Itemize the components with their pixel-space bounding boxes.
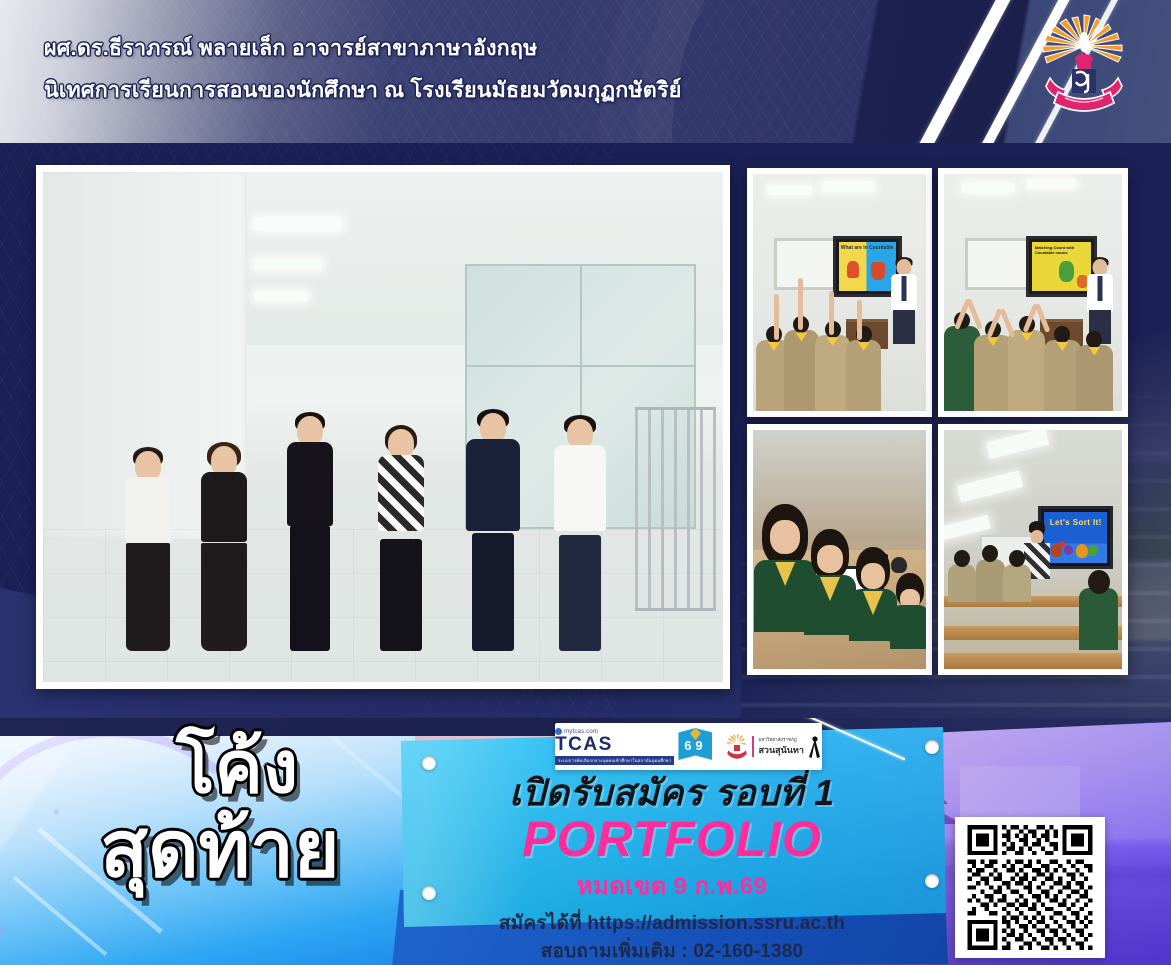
classroom-raising-hands: What are in Countable bbox=[753, 174, 926, 411]
ssru-name-line-2: สวนสุนันทา bbox=[758, 743, 803, 757]
qr-code-image bbox=[963, 825, 1097, 950]
banner-headline: โค้ง สุดท้าย bbox=[20, 732, 420, 888]
ssru-logo: มหาวิทยาลัยราชภัฏ สวนสุนันทา bbox=[726, 734, 821, 760]
poster-root: ผศ.ดร.ธีราภรณ์ พลายเล็ก อาจารย์สาขาภาษาอ… bbox=[0, 0, 1171, 965]
tcas-year: 69 bbox=[684, 738, 706, 753]
ssru-name-line-1: มหาวิทยาลัยราชภัฏ bbox=[758, 736, 803, 743]
ssru-crest-small-icon bbox=[726, 734, 748, 760]
thumb-photo-frame-2: Matching Count with Countable nouns bbox=[938, 168, 1128, 417]
headline-line-2: สุดท้าย bbox=[20, 810, 420, 888]
header-title-line-2: นิเทศการเรียนการสอนของนักศึกษา ณ โรงเรีย… bbox=[44, 70, 682, 112]
headline-line-1: โค้ง bbox=[54, 732, 420, 804]
poster-body: What are in Countable bbox=[0, 143, 1171, 718]
thumb-photo-frame-3 bbox=[747, 424, 932, 675]
header-title-line-1: ผศ.ดร.ธีราภรณ์ พลายเล็ก อาจารย์สาขาภาษาอ… bbox=[44, 28, 682, 70]
flag-grommet-top-right bbox=[925, 740, 939, 754]
poster-header: ผศ.ดร.ธีราภรณ์ พลายเล็ก อาจารย์สาขาภาษาอ… bbox=[0, 0, 1171, 143]
mourning-ribbon-icon bbox=[808, 735, 822, 759]
tcas-wordmark: TCAS bbox=[555, 735, 613, 754]
thumb-photo-frame-4: Let's Sort It! bbox=[938, 424, 1128, 675]
tcas-logo: mytcas.com TCAS ระบบการคัดเลือกกลางบุคคล… bbox=[555, 728, 712, 765]
tcas-ssru-logo-card: mytcas.com TCAS ระบบการคัดเลือกกลางบุคคล… bbox=[555, 723, 822, 770]
classroom-heart-hands: Matching Count with Countable nouns bbox=[944, 174, 1122, 411]
group-photo-frame bbox=[36, 165, 730, 689]
flag-line-3: หมดเขต 9 ก.พ.69 bbox=[398, 866, 946, 905]
admission-qr-code[interactable] bbox=[955, 817, 1105, 958]
flag-line-5-phone[interactable]: สอบถามเพิ่มเติม : 02-160-1380 bbox=[398, 936, 946, 965]
ssru-name-block: มหาวิทยาลัยราชภัฏ สวนสุนันทา bbox=[752, 736, 803, 757]
students-tablet-activity bbox=[753, 430, 926, 669]
header-text-block: ผศ.ดร.ธีราภรณ์ พลายเล็ก อาจารย์สาขาภาษาอ… bbox=[44, 28, 682, 112]
tcas-tagline: ระบบการคัดเลือกกลางบุคคลเข้าศึกษาในสถาบั… bbox=[555, 756, 674, 765]
ssru-crest-icon bbox=[1032, 12, 1136, 120]
classroom-lets-sort-it: Let's Sort It! bbox=[944, 430, 1122, 669]
thumb-photo-frame-1: What are in Countable bbox=[747, 168, 932, 417]
flag-line-2: PORTFOLIO bbox=[398, 810, 946, 868]
sort-it-screen-title: Let's Sort It! bbox=[1044, 518, 1107, 527]
flag-line-4-admission-url[interactable]: สมัครได้ที่ https://admission.ssru.ac.th bbox=[398, 908, 946, 938]
tcas-book-icon: 69 bbox=[678, 728, 712, 760]
group-photo-corridor bbox=[43, 172, 723, 682]
